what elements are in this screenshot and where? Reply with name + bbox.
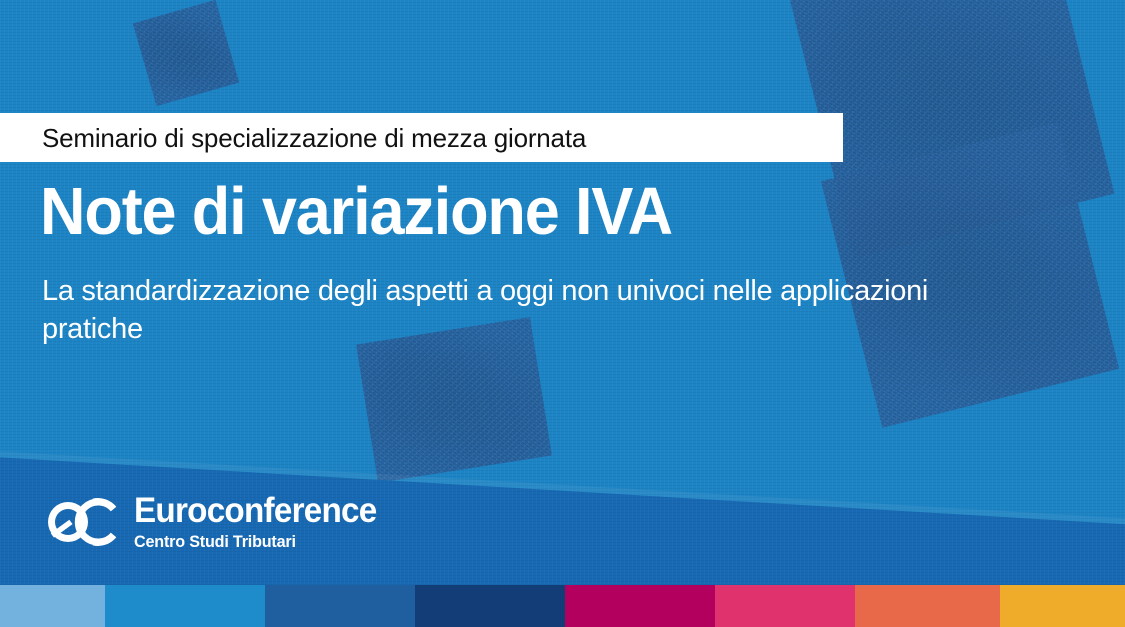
brand-color-strip [0,585,1125,627]
banner-subtitle: La standardizzazione degli aspetti a ogg… [42,272,972,348]
banner-title: Note di variazione IVA [40,178,672,245]
color-swatch-pink [715,585,855,627]
color-swatch-blue [105,585,265,627]
logo-wordmark: Euroconference Centro Studi Tributari [134,493,389,550]
logo-tagline: Centro Studi Tributari [134,533,377,550]
color-swatch-orange [855,585,1000,627]
color-swatch-magenta [565,585,715,627]
color-swatch-amber [1000,585,1125,627]
seminar-promo-banner: Seminario di specializzazione di mezza g… [0,0,1125,627]
logo-name: Euroconference [134,493,377,528]
color-swatch-navy [415,585,565,627]
ec-monogram-icon [42,496,120,548]
eyebrow-text: Seminario di specializzazione di mezza g… [0,125,586,151]
eyebrow-label: Seminario di specializzazione di mezza g… [0,113,843,162]
color-swatch-light-blue [0,585,105,627]
euroconference-logo: Euroconference Centro Studi Tributari [42,493,389,550]
color-swatch-medium-blue [265,585,415,627]
